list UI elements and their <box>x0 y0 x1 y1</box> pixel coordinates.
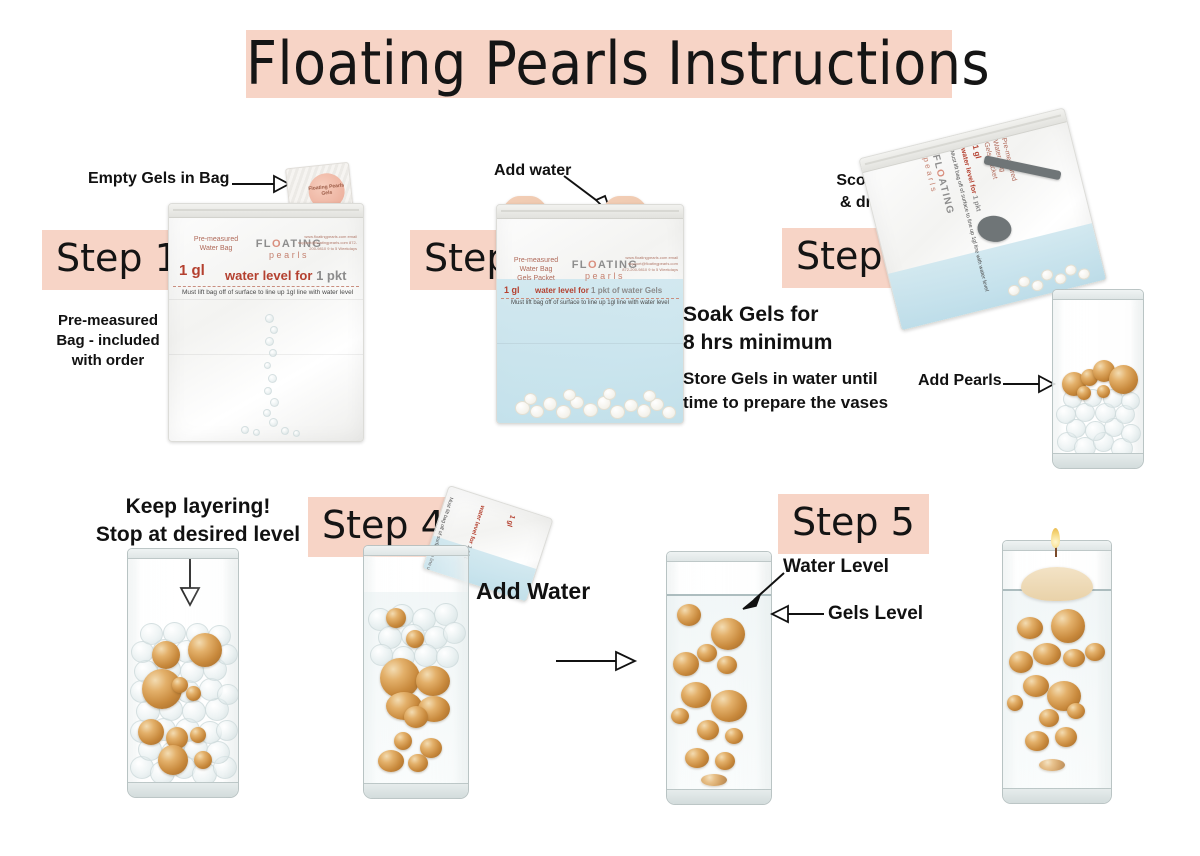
instruction-poster: Floating Pearls Instructions Empty Gels … <box>0 0 1200 856</box>
pearl <box>1109 365 1138 394</box>
soak-heading-line-2: 8 hrs minimum <box>683 331 888 355</box>
page-title: Floating Pearls Instructions <box>246 28 952 100</box>
bag-contact-micro-text: www.floatingpearls.com email support@flo… <box>295 234 357 252</box>
pearl <box>1025 731 1049 751</box>
soak-heading-line-1: Soak Gels for <box>683 303 888 327</box>
arrow-empty-gels-shaft <box>232 183 276 185</box>
bag-waterlevel-for: water level for <box>225 268 312 283</box>
pearl <box>725 728 743 744</box>
pearl <box>1017 617 1043 639</box>
bag-2-premeasured: Pre-measured Water Bag Gels Packet <box>507 257 565 283</box>
pearl <box>408 754 428 772</box>
water-bag-step-1: Pre-measured Water Bag FLOATING pearls w… <box>168 203 364 442</box>
callout-keep-layering: Keep layering! Stop at desired level <box>72 495 324 547</box>
vase-base-3 <box>1053 453 1143 468</box>
pearl <box>1007 695 1023 711</box>
callout-pre-measured-line-1: Pre-measured <box>38 312 178 329</box>
water-bag-step-2: Pre-measured Water Bag Gels Packet FLOAT… <box>496 204 684 424</box>
pearl <box>1023 675 1049 697</box>
pearl <box>717 656 737 674</box>
vase-rim-3 <box>1052 290 1144 300</box>
pearl <box>701 774 727 786</box>
vase-base-layering <box>128 782 238 797</box>
pearl <box>697 644 717 662</box>
callout-pre-measured-line-2: Bag - included <box>38 332 178 349</box>
pearl <box>188 633 222 667</box>
vase-base-final <box>1003 788 1111 803</box>
pearl <box>158 745 188 775</box>
bag-label-waterbag: Water Bag <box>200 245 233 252</box>
vase-rim-layering <box>127 549 239 559</box>
pearl <box>138 719 164 745</box>
pearl <box>1039 709 1059 727</box>
pearl <box>152 641 180 669</box>
pearl <box>386 608 406 628</box>
pearl <box>1039 759 1065 771</box>
pearl <box>190 727 206 743</box>
pearl <box>1077 386 1091 400</box>
pearl <box>416 666 450 696</box>
vase-base-5 <box>667 789 771 804</box>
pearl <box>685 748 709 768</box>
bag-one-pkt: 1 pkt <box>316 268 346 283</box>
bag-pre-measured-label: Pre-measured Water Bag <box>185 236 247 254</box>
callout-water-level: Water Level <box>783 556 889 578</box>
callout-keep-layering-line-1: Keep layering! <box>72 495 324 519</box>
candle-flame-icon <box>1051 528 1060 548</box>
bag-4-gallon: 1 gl <box>505 514 515 528</box>
bag-fine-print: Must lift bag off of surface to line up … <box>182 289 353 296</box>
pearl <box>1085 643 1105 661</box>
pearl <box>1097 385 1110 398</box>
vase-rim-4 <box>363 546 469 556</box>
pearl <box>404 706 428 728</box>
callout-keep-layering-line-2: Stop at desired level <box>72 523 324 547</box>
pearl <box>1067 703 1085 719</box>
bag-2-gallon: 1 gl <box>504 285 520 295</box>
callout-add-water-step-4: Add Water <box>476 578 590 605</box>
arrow-right-outline-icon-transition <box>614 650 638 673</box>
vase-rim-5 <box>666 552 772 562</box>
pearl <box>406 630 424 648</box>
bag-label-premeasured: Pre-measured <box>194 236 238 243</box>
arrow-transition-shaft <box>556 660 618 662</box>
arrow-left-outline-icon <box>768 604 790 624</box>
pearl <box>711 618 745 650</box>
pearl <box>697 720 719 740</box>
soak-sub-line-2: time to prepare the vases <box>683 393 888 413</box>
soak-instructions: Soak Gels for 8 hrs minimum Store Gels i… <box>683 303 888 413</box>
bag-2-waterlevel: water level for 1 pkt of water Gels <box>535 286 662 295</box>
callout-add-pearls: Add Pearls <box>918 372 1002 390</box>
bag-2-fine-print: Must lift bag off of surface to line up … <box>511 300 669 306</box>
pearl <box>715 752 735 770</box>
brand-o: O <box>272 238 282 250</box>
bag-zip-seal <box>169 204 363 218</box>
vase-base-4 <box>364 783 468 798</box>
arrow-add-pearls-shaft <box>1003 383 1041 385</box>
pearl <box>1055 727 1077 747</box>
pearl <box>186 686 201 701</box>
pearl <box>1051 609 1085 643</box>
brand-fl: FL <box>256 238 272 250</box>
vase-step-3 <box>1052 289 1144 469</box>
pearl <box>1033 643 1061 665</box>
callout-pre-measured: Pre-measured Bag - included with order <box>38 312 178 369</box>
pearl <box>394 732 412 750</box>
pearl <box>671 708 689 724</box>
floating-candle-icon <box>1021 567 1093 601</box>
pearl <box>1063 649 1085 667</box>
pearl <box>677 604 701 626</box>
pearl <box>378 750 404 772</box>
vase-final-candle <box>1002 540 1112 804</box>
pearl <box>673 652 699 676</box>
pearl <box>711 690 747 722</box>
pearl <box>194 751 212 769</box>
callout-gels-level: Gels Level <box>828 603 923 625</box>
pearl <box>681 682 711 708</box>
bag-gallon-mark: 1 gl <box>179 262 205 279</box>
bag-water-level-line: water level for 1 pkt <box>225 268 346 283</box>
bag-zip-seal-2 <box>497 205 683 219</box>
vase-step-4 <box>363 545 469 799</box>
pearl <box>1009 651 1033 673</box>
soak-sub-line-1: Store Gels in water until <box>683 369 888 389</box>
arrow-gels-level-shaft <box>788 613 824 615</box>
step-5-badge: Step 5 <box>778 494 929 554</box>
vase-layering <box>127 548 239 798</box>
bag-2-contact-micro: www.floatingpearls.com email support@flo… <box>622 255 678 273</box>
callout-empty-gels: Empty Gels in Bag <box>88 170 229 188</box>
callout-pre-measured-line-3: with order <box>38 352 178 369</box>
